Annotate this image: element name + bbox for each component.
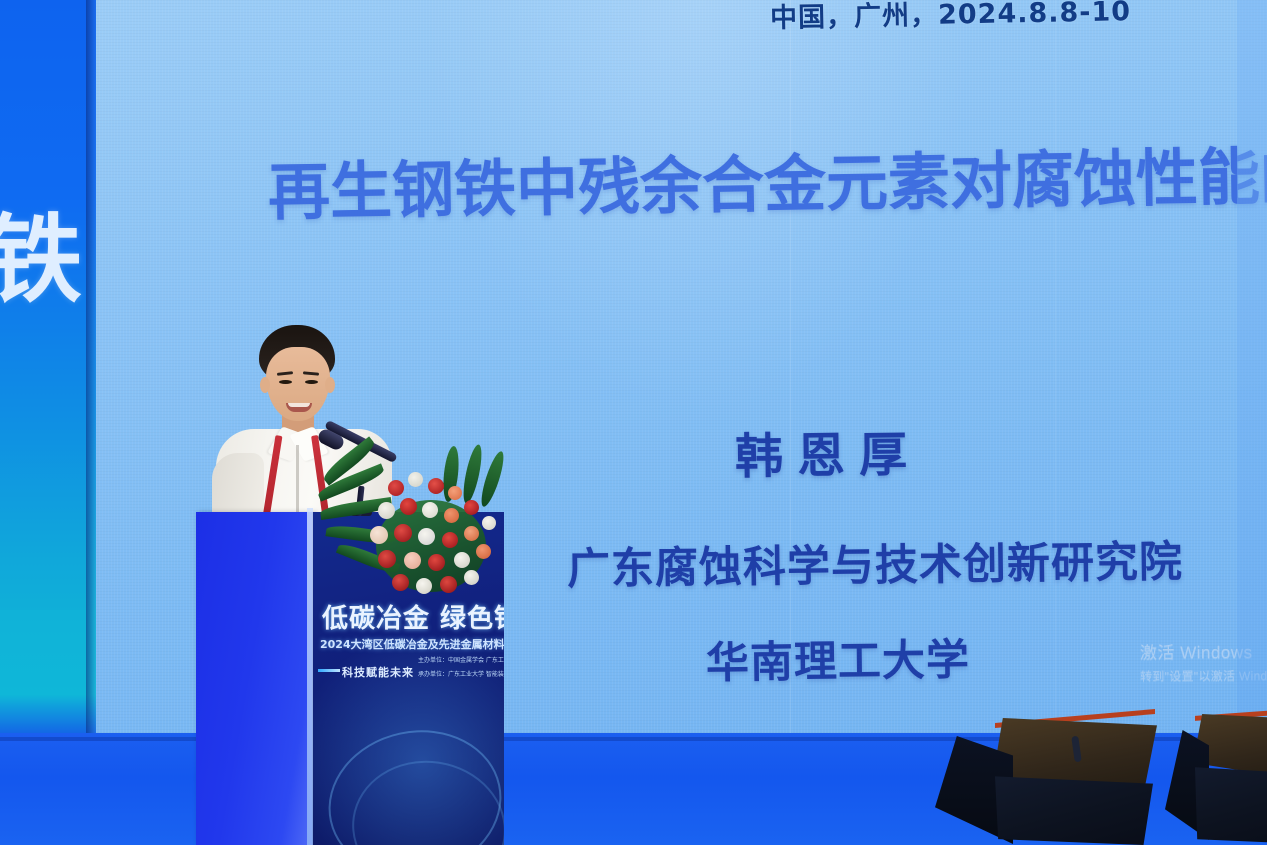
podium-left-side bbox=[196, 512, 316, 845]
rose-white bbox=[378, 502, 395, 519]
rose-white bbox=[370, 526, 388, 544]
stage-monitor-right bbox=[1165, 700, 1267, 845]
conference-photo: 中国，广州，2024.8.8-10 再生钢铁中残余合金元素对腐蚀性能的影响 韩恩… bbox=[0, 0, 1267, 845]
podium-banner-title: 低碳冶金 绿色钢铁 bbox=[322, 598, 502, 635]
rose-white bbox=[408, 472, 423, 487]
presenter-eye-right bbox=[305, 380, 318, 384]
slide-affiliation-2: 华南理工大学 bbox=[706, 639, 971, 685]
stage-monitor-left bbox=[935, 700, 1175, 845]
rose-orange bbox=[476, 544, 491, 559]
rose-pink bbox=[404, 552, 421, 569]
podium-organizer-line-2: 承办单位：广东工业大学 智能装备有限公司 bbox=[418, 670, 504, 679]
podium-banner-tagline: 科技赋能未来 bbox=[342, 664, 414, 680]
left-wall-edge-shadow bbox=[86, 0, 96, 845]
rose-red bbox=[388, 480, 404, 496]
monitor-front-face bbox=[995, 772, 1153, 845]
rose-white bbox=[422, 502, 438, 518]
podium-front-edge bbox=[307, 508, 313, 845]
slide-title: 再生钢铁中残余合金元素对腐蚀性能的影响 bbox=[268, 144, 1267, 227]
podium-organizer-line-1: 主办单位：中国金属学会 广东工业大学 bbox=[418, 656, 504, 665]
presenter-eye-left bbox=[279, 380, 292, 384]
slide-speaker-name: 韩恩厚 bbox=[735, 431, 922, 481]
rose-red bbox=[428, 478, 444, 494]
rose-red bbox=[464, 500, 479, 515]
led-panel-seam bbox=[790, 0, 791, 845]
left-side-wall-panel bbox=[0, 0, 96, 660]
slide-affiliation-1: 广东腐蚀科学与技术创新研究院 bbox=[567, 541, 1183, 592]
rose-white bbox=[464, 570, 479, 585]
rose-white bbox=[418, 528, 435, 545]
rose-red bbox=[392, 574, 409, 591]
palm-leaf bbox=[477, 449, 507, 508]
flower-bouquet bbox=[316, 440, 516, 600]
rose-red bbox=[400, 498, 417, 515]
podium-tagline-bar bbox=[318, 669, 340, 672]
rose-orange bbox=[448, 486, 462, 500]
rose-white bbox=[482, 516, 496, 530]
presenter-ear-left bbox=[260, 377, 270, 393]
presenter-ear-right bbox=[325, 377, 335, 393]
rose-orange bbox=[444, 508, 459, 523]
monitor-front-face bbox=[1195, 764, 1267, 844]
presenter-teeth bbox=[288, 403, 310, 407]
rose-orange bbox=[464, 526, 479, 541]
rose-red bbox=[378, 550, 396, 568]
rose-white bbox=[416, 578, 432, 594]
rose-white bbox=[454, 552, 470, 568]
rose-red bbox=[440, 576, 457, 593]
rose-red bbox=[428, 554, 445, 571]
rose-red bbox=[442, 532, 458, 548]
podium-banner-subtitle: 2024大湾区低碳冶金及先进金属材料科技交流大会 bbox=[320, 636, 504, 652]
left-wall-character: 铁 bbox=[0, 212, 80, 308]
rose-red bbox=[394, 524, 412, 542]
